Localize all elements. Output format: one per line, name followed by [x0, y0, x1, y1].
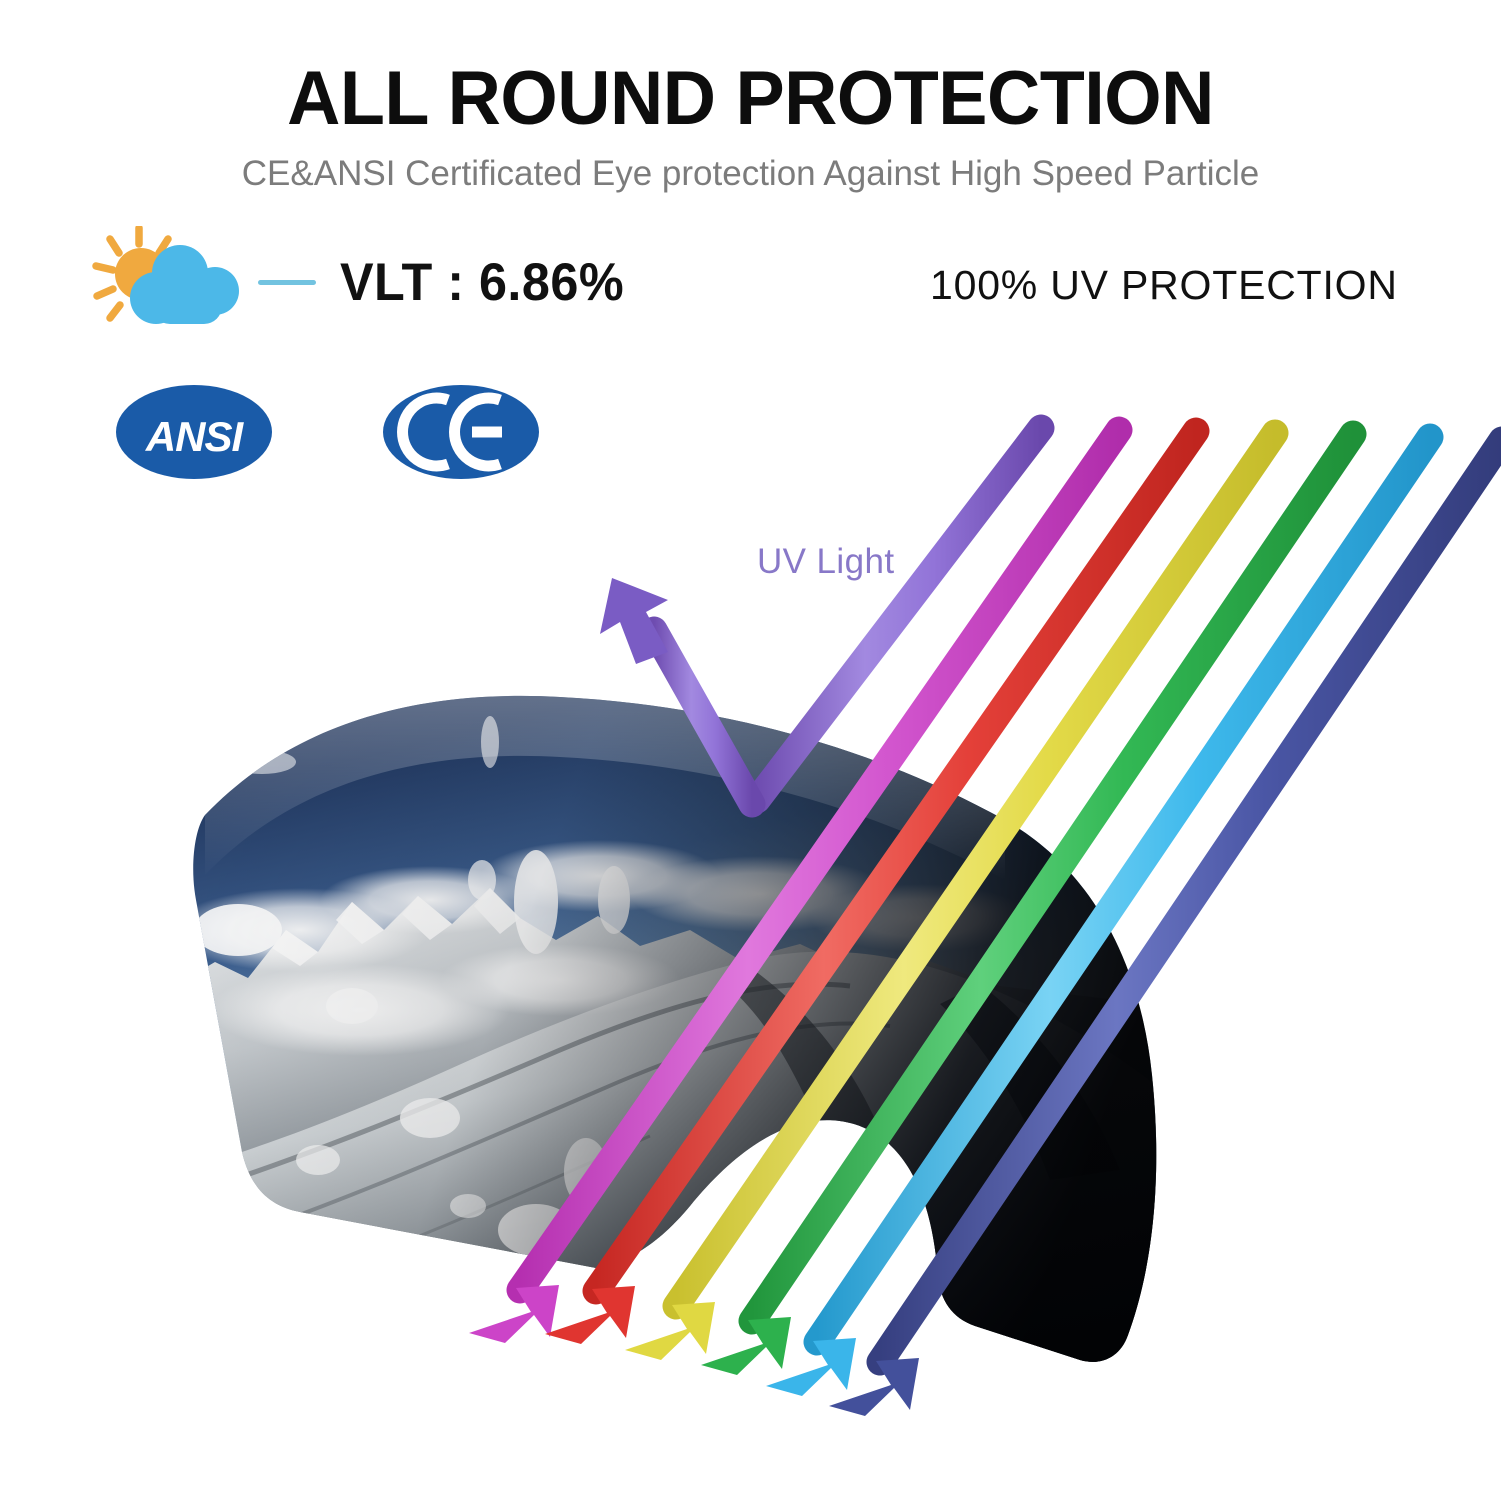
svg-text:ANSI: ANSI — [145, 413, 245, 460]
vlt-value-label: VLT : 6.86% — [340, 252, 624, 313]
ray-purple-reflected — [600, 428, 1041, 804]
sun-behind-cloud-icon — [84, 226, 254, 338]
goggle-lens — [150, 660, 1200, 1400]
uv-light-label: UV Light — [757, 542, 894, 582]
page-subtitle: CE&ANSI Certificated Eye protection Agai… — [0, 152, 1501, 196]
ray-yellow — [625, 433, 1275, 1360]
ansi-badge: ANSI — [106, 378, 276, 491]
connector-dash — [258, 280, 316, 285]
uv-protection-label: 100% UV PROTECTION — [930, 262, 1398, 309]
ray-navy — [829, 440, 1501, 1416]
vlt-spec-row: VLT : 6.86% — [84, 222, 639, 342]
certification-badges: ANSI — [106, 378, 546, 491]
ce-badge — [376, 378, 546, 491]
page-title: ALL ROUND PROTECTION — [23, 58, 1479, 140]
